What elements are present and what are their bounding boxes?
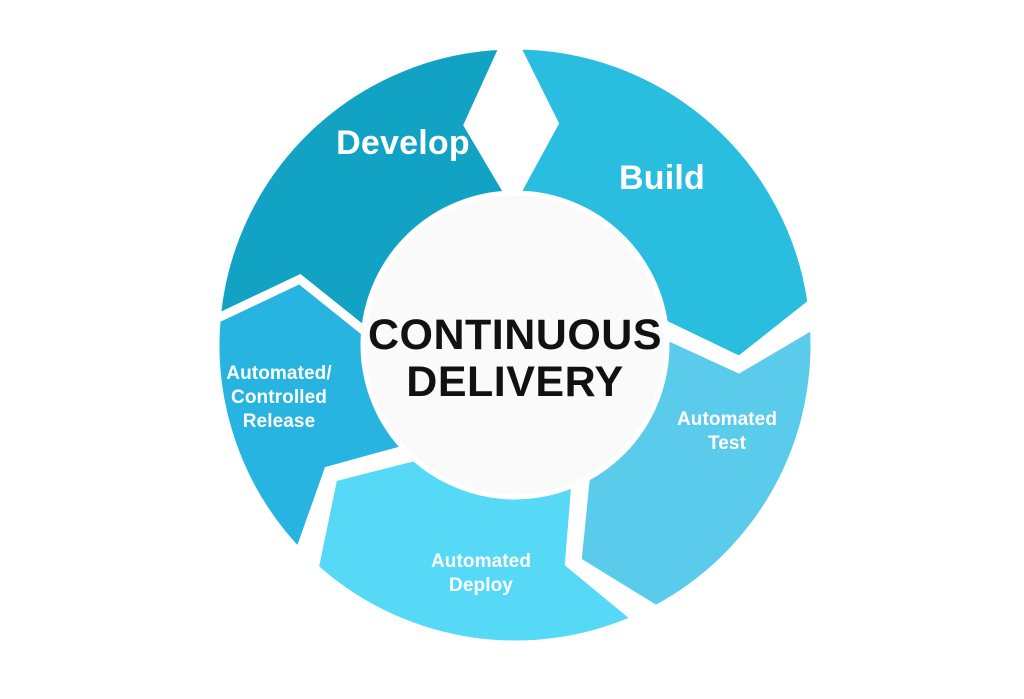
- segment-label-release-line3: Release: [243, 411, 316, 432]
- segment-label-release-line1: Automated/: [226, 363, 332, 384]
- segment-label-develop: Develop: [336, 124, 470, 162]
- segment-label-build: Build: [619, 159, 705, 197]
- segment-label-release-line2: Controlled: [231, 387, 327, 408]
- cycle-diagram-canvas: DevelopBuildAutomatedTestAutomatedDeploy…: [0, 0, 1024, 699]
- continuous-delivery-diagram: DevelopBuildAutomatedTestAutomatedDeploy…: [0, 0, 1024, 699]
- center-title-line1: CONTINUOUS: [368, 311, 662, 359]
- segment-label-automated-test-line1: Automated: [677, 409, 777, 430]
- segment-label-automated-deploy-line2: Deploy: [449, 575, 513, 596]
- center-title-line2: DELIVERY: [406, 358, 623, 406]
- segment-label-automated-deploy-line1: Automated: [431, 551, 531, 572]
- segment-label-automated-test-line2: Test: [708, 433, 747, 454]
